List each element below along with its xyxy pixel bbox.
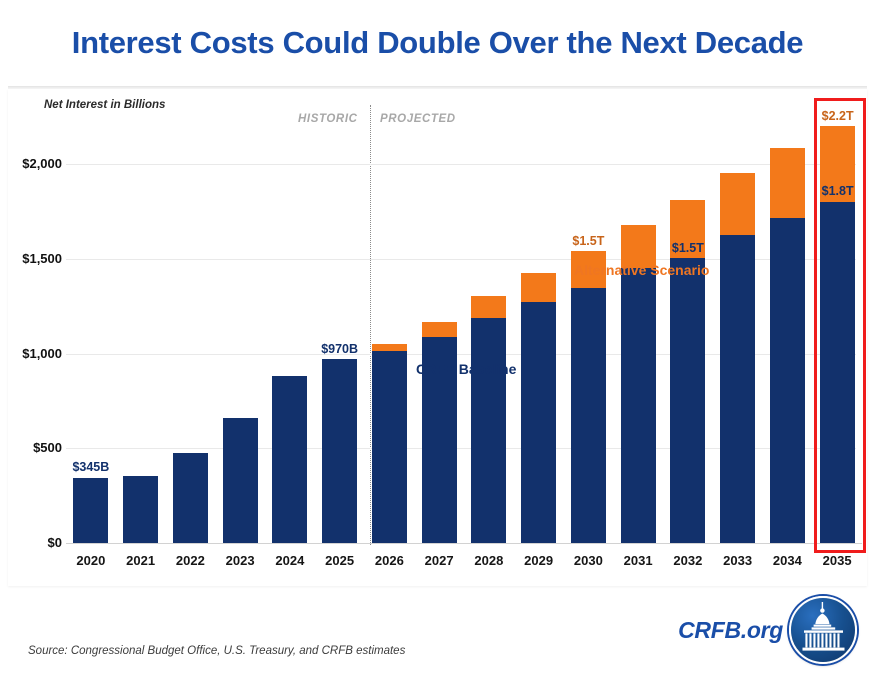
bar-group[interactable]	[173, 0, 208, 543]
bar-segment-alternative[interactable]	[521, 273, 556, 302]
y-axis-tick: $2,000	[10, 156, 62, 171]
bar-data-label: $1.5T	[572, 235, 604, 248]
source-note: Source: Congressional Budget Office, U.S…	[28, 645, 405, 657]
chart-poster: Interest Costs Could Double Over the Nex…	[0, 0, 875, 676]
series-label-alternative: Alternative Scenario	[574, 262, 709, 278]
bar-group[interactable]	[272, 0, 307, 543]
bar-segment-baseline[interactable]	[223, 418, 258, 543]
x-axis-tick: 2025	[314, 553, 366, 568]
bar-group[interactable]: $970B	[322, 0, 357, 543]
bar-segment-baseline[interactable]	[123, 476, 158, 543]
x-axis-tick: 2029	[513, 553, 565, 568]
bar-group[interactable]: $345B	[73, 0, 108, 543]
x-axis-tick: 2027	[413, 553, 465, 568]
y-axis-tick-wrap: $1,000	[8, 354, 62, 355]
y-axis-tick-wrap: $2,000	[8, 164, 62, 165]
bar-data-label: $345B	[72, 461, 109, 474]
x-axis-tick: 2023	[214, 553, 266, 568]
highlight-box-2035	[814, 98, 866, 553]
bar-segment-baseline[interactable]	[521, 302, 556, 543]
y-axis-tick: $1,000	[10, 346, 62, 361]
bar-group[interactable]	[123, 0, 158, 543]
x-axis-tick: 2033	[712, 553, 764, 568]
bar-segment-baseline[interactable]	[621, 268, 656, 543]
chart-area: Net Interest in Billions HISTORIC PROJEC…	[8, 89, 867, 586]
x-axis-tick: 2024	[264, 553, 316, 568]
x-axis-tick: 2022	[164, 553, 216, 568]
bar-segment-alternative[interactable]	[471, 296, 506, 318]
x-axis-tick: 2034	[761, 553, 813, 568]
bar-segment-baseline[interactable]	[73, 478, 108, 543]
bar-segment-alternative[interactable]	[770, 148, 805, 218]
bar-group[interactable]	[471, 0, 506, 543]
bar-segment-baseline[interactable]	[770, 218, 805, 543]
y-axis-tick: $1,500	[10, 251, 62, 266]
bar-segment-baseline[interactable]	[670, 258, 705, 543]
bar-segment-baseline[interactable]	[322, 359, 357, 543]
plot-area: $345B20202021202220232024$970B2025202620…	[66, 89, 862, 586]
y-axis-tick-wrap: $1,500	[8, 259, 62, 260]
bar-segment-baseline[interactable]	[471, 318, 506, 543]
bar-segment-baseline[interactable]	[372, 351, 407, 543]
x-axis-tick: 2032	[662, 553, 714, 568]
bar-segment-baseline[interactable]	[173, 453, 208, 543]
bar-group[interactable]	[422, 0, 457, 543]
bar-segment-alternative[interactable]	[720, 173, 755, 234]
x-axis-tick: 2030	[562, 553, 614, 568]
bar-data-label: $1.5T	[672, 242, 704, 255]
bar-segment-baseline[interactable]	[272, 376, 307, 543]
brand-label: CRFB.org	[678, 617, 783, 644]
x-axis-tick: 2020	[65, 553, 117, 568]
brand-block[interactable]: CRFB.org	[678, 596, 857, 664]
bar-group[interactable]	[223, 0, 258, 543]
bar-segment-baseline[interactable]	[720, 235, 755, 543]
x-axis-tick: 2035	[811, 553, 863, 568]
x-axis-tick: 2028	[463, 553, 515, 568]
bar-segment-alternative[interactable]	[372, 344, 407, 351]
bar-group[interactable]	[770, 0, 805, 543]
bar-segment-baseline[interactable]	[571, 288, 606, 543]
y-axis-tick-wrap: $500	[8, 448, 62, 449]
y-axis-tick-wrap: $0	[8, 543, 62, 544]
capitol-dome-icon	[789, 596, 857, 664]
x-axis-tick: 2031	[612, 553, 664, 568]
x-axis-tick: 2026	[363, 553, 415, 568]
bar-group[interactable]	[372, 0, 407, 543]
y-axis-tick: $0	[10, 535, 62, 550]
series-label-baseline: CRFB Baseline	[416, 361, 516, 377]
y-axis-tick: $500	[10, 440, 62, 455]
bar-group[interactable]	[720, 0, 755, 543]
bar-segment-alternative[interactable]	[422, 322, 457, 337]
x-axis-tick: 2021	[115, 553, 167, 568]
bar-data-label: $970B	[321, 343, 358, 356]
bar-group[interactable]	[521, 0, 556, 543]
